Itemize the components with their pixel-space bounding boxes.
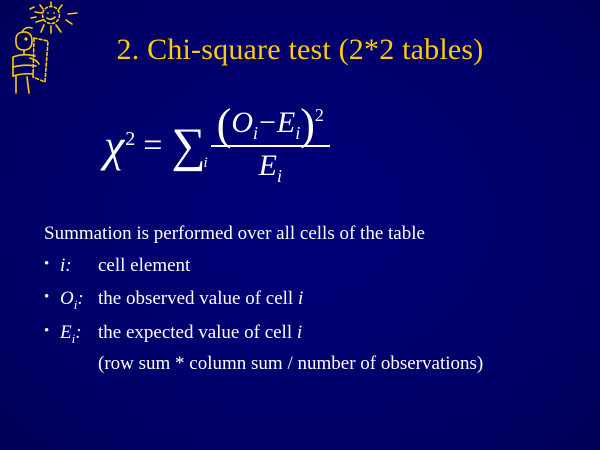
- bullet-icon: •: [44, 321, 60, 341]
- list-item: • i: cell element: [44, 254, 574, 280]
- sun-icon: [30, 2, 77, 33]
- chi-square-formula: χ2 = ∑ i (Oi−Ei)2 Ei: [104, 100, 330, 192]
- formula-denominator: Ei: [253, 147, 288, 186]
- list-item: • Ei: the expected value of cell i: [44, 321, 574, 347]
- bullet-text: cell element: [98, 254, 574, 278]
- minus-operator: −: [259, 106, 276, 139]
- formula-numerator: (Oi−Ei)2: [211, 106, 330, 145]
- sigma-icon: ∑: [171, 122, 205, 170]
- denominator-symbol: E: [259, 149, 277, 182]
- formula-chi-exponent: 2: [125, 128, 135, 150]
- close-paren: ): [300, 100, 315, 149]
- slide-canvas: 2. Chi-square test (2*2 tables) χ2 = ∑ i…: [0, 0, 600, 450]
- body-content: Summation is performed over all cells of…: [44, 222, 574, 376]
- open-paren: (: [217, 100, 232, 149]
- bullet-text: the expected value of cell i: [98, 321, 574, 345]
- bullet-continuation-text: (row sum * column sum / number of observ…: [98, 352, 574, 376]
- formula-summation: ∑ i: [171, 122, 205, 170]
- bullet-icon: •: [44, 287, 60, 307]
- observed-subscript: i: [253, 123, 258, 143]
- page-title: 2. Chi-square test (2*2 tables): [0, 33, 600, 67]
- denominator-subscript: i: [277, 166, 282, 186]
- bullet-symbol: Ei:: [60, 321, 98, 347]
- formula-fraction: (Oi−Ei)2 Ei: [211, 106, 330, 187]
- bullet-symbol: Oi:: [60, 287, 98, 313]
- bullet-icon: •: [44, 254, 60, 274]
- formula-chi-symbol: χ2: [104, 123, 135, 169]
- bullet-text: the observed value of cell i: [98, 287, 574, 311]
- numerator-exponent: 2: [315, 105, 324, 125]
- list-item: • Oi: the observed value of cell i: [44, 287, 574, 313]
- lead-text: Summation is performed over all cells of…: [44, 222, 574, 245]
- formula-equals: =: [143, 129, 162, 163]
- expected-symbol: E: [277, 106, 295, 139]
- formula-sum-index: i: [203, 155, 207, 172]
- bullet-symbol: i:: [60, 254, 98, 280]
- observed-symbol: O: [231, 106, 253, 139]
